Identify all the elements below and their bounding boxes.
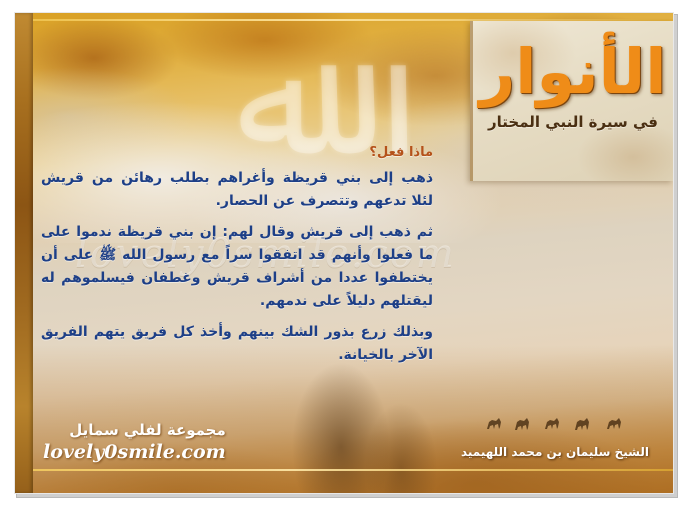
left-ornament-bar [15,13,33,493]
content-column: ماذا فعل؟ ذهب إلى بني قريظة وأغراهم بطلب… [41,145,433,367]
screenshot-root: ﷲ lovely0smile.com الأنوار في سيرة النبي… [0,0,692,512]
page-title: الأنوار [473,35,673,109]
footer-branding: مجموعة لفلي سمايل lovely0smile.com [43,421,226,463]
footer-author-credit: الشيخ سليمان بن محمد اللهيميد [461,445,649,459]
footer-group-name: مجموعة لفلي سمايل [43,421,226,440]
footer-site-url[interactable]: lovely0smile.com [43,441,226,463]
page-subtitle: في سيرة النبي المختار [473,113,673,131]
body-paragraph-3: وبذلك زرع بذور الشك بينهم وأخذ كل فريق ي… [41,321,433,367]
poster-card: ﷲ lovely0smile.com الأنوار في سيرة النبي… [14,12,674,494]
title-panel: الأنوار في سيرة النبي المختار [470,21,673,181]
body-paragraph-2: ثم ذهب إلى قريش وقال لهم: إن بني قريظة ن… [41,221,433,313]
body-paragraph-1: ذهب إلى بني قريظة وأغراهم بطلب رهائن من … [41,167,433,213]
question-heading: ماذا فعل؟ [41,145,433,160]
bottom-gold-rule [33,469,673,471]
